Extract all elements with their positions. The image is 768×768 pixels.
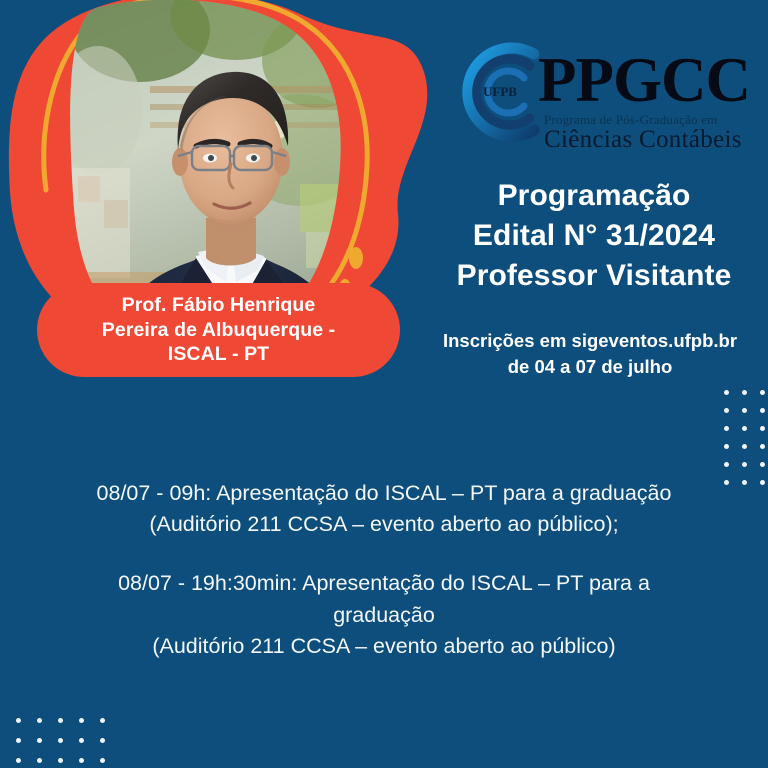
decorative-dot xyxy=(742,426,747,431)
decorative-dot xyxy=(100,738,105,743)
registration-line-2: de 04 a 07 de julho xyxy=(412,354,768,380)
dot-pattern-right xyxy=(724,390,768,498)
logo-subtitle-line-2: Ciências Contábeis xyxy=(544,126,742,154)
decorative-dot xyxy=(760,408,765,413)
schedule-item-line-1: 08/07 - 09h: Apresentação do ISCAL – PT … xyxy=(44,478,724,509)
decorative-dot xyxy=(79,718,84,723)
decorative-dot xyxy=(742,480,747,485)
speaker-name-line-2: Pereira de Albuquerque - xyxy=(102,318,336,343)
decorative-dot xyxy=(100,758,105,763)
schedule-item-line-2: (Auditório 211 CCSA – evento aberto ao p… xyxy=(44,509,724,540)
registration-line-1: Inscrições em sigeventos.ufpb.br xyxy=(412,328,768,354)
schedule-item-line-1: 08/07 - 19h:30min: Apresentação do ISCAL… xyxy=(44,568,724,599)
decorative-dot xyxy=(742,390,747,395)
orange-drop-1 xyxy=(349,247,363,269)
decorative-dot xyxy=(724,480,729,485)
decorative-dot xyxy=(16,718,21,723)
decorative-dot xyxy=(16,758,21,763)
decorative-dot xyxy=(742,408,747,413)
decorative-dot xyxy=(760,426,765,431)
decorative-dot xyxy=(742,444,747,449)
decorative-dot xyxy=(742,462,747,467)
decorative-dot xyxy=(724,462,729,467)
decorative-dot xyxy=(760,390,765,395)
registration-info: Inscrições em sigeventos.ufpb.br de 04 a… xyxy=(412,328,768,379)
decorative-dot xyxy=(16,738,21,743)
ppgcc-logo: UFPB PPGCC Programa de Pós-Graduação em … xyxy=(448,36,738,156)
headline-line-1: Programação xyxy=(420,176,768,216)
decorative-dot xyxy=(760,480,765,485)
ppgcc-wordmark: PPGCC xyxy=(538,49,750,112)
dot-pattern-bottom-left xyxy=(16,718,121,768)
schedule-item: 08/07 - 09h: Apresentação do ISCAL – PT … xyxy=(44,478,724,540)
speaker-name-badge: Prof. Fábio Henrique Pereira de Albuquer… xyxy=(37,283,400,377)
ufpb-logo-text: UFPB xyxy=(483,84,517,99)
decorative-dot xyxy=(724,444,729,449)
page-title: Programação Edital N° 31/2024 Professor … xyxy=(420,176,768,297)
schedule-item-line-2: graduação xyxy=(44,600,724,631)
decorative-dot xyxy=(79,738,84,743)
schedule-list: 08/07 - 09h: Apresentação do ISCAL – PT … xyxy=(44,478,724,662)
decorative-dot xyxy=(37,738,42,743)
decorative-dot xyxy=(760,444,765,449)
schedule-item: 08/07 - 19h:30min: Apresentação do ISCAL… xyxy=(44,568,724,662)
headline-line-2: Edital N° 31/2024 xyxy=(420,216,768,256)
decorative-dot xyxy=(37,718,42,723)
poster-canvas: Prof. Fábio Henrique Pereira de Albuquer… xyxy=(0,0,768,768)
decorative-dot xyxy=(79,758,84,763)
decorative-dot xyxy=(100,718,105,723)
schedule-item-line-3: (Auditório 211 CCSA – evento aberto ao p… xyxy=(44,631,724,662)
decorative-dot xyxy=(760,462,765,467)
decorative-dot xyxy=(58,738,63,743)
decorative-dot xyxy=(724,408,729,413)
speaker-name-line-3: ISCAL - PT xyxy=(168,342,269,367)
decorative-dot xyxy=(37,758,42,763)
decorative-dot xyxy=(58,758,63,763)
headline-line-3: Professor Visitante xyxy=(420,256,768,296)
decorative-dot xyxy=(724,390,729,395)
decorative-dot xyxy=(724,426,729,431)
decorative-dot xyxy=(58,718,63,723)
speaker-name-line-1: Prof. Fábio Henrique xyxy=(122,293,316,318)
